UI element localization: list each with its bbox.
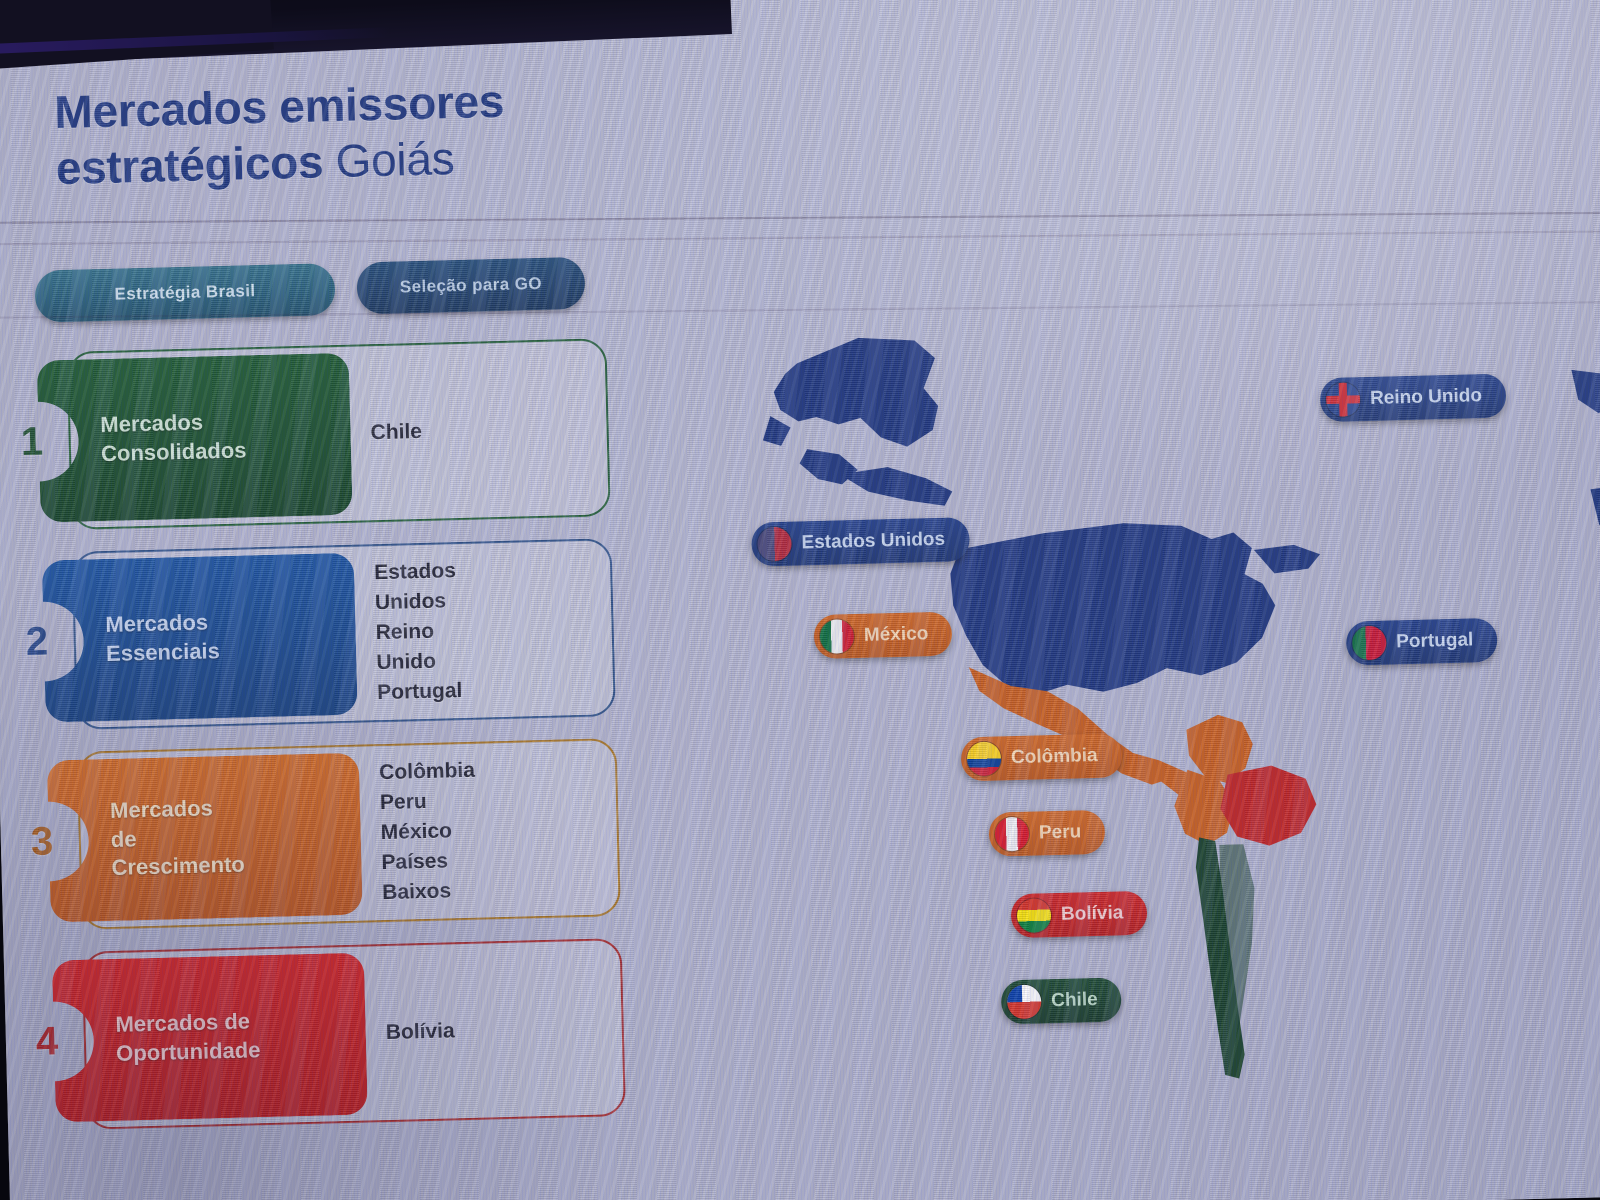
map-pill-reino-unido[interactable]: Reino Unido [1320, 374, 1507, 423]
tier-name-line-1: Mercados de [110, 794, 245, 855]
map-pill-chile[interactable]: Chile [1001, 977, 1123, 1024]
map-pill-label: Portugal [1396, 629, 1474, 653]
tier-number: 3 [29, 760, 55, 923]
map-pill-bolivia[interactable]: Bolívia [1011, 891, 1148, 938]
tier-number: 4 [34, 960, 60, 1123]
flag-bolivia-icon [1017, 898, 1052, 933]
tier-number: 1 [19, 361, 45, 524]
flag-peru-icon [995, 817, 1030, 852]
country-item: Países Baixos [381, 846, 478, 908]
map-pill-label: México [864, 623, 929, 647]
map-pill-colombia[interactable]: Colômbia [961, 733, 1123, 781]
map-pill-peru[interactable]: Peru [988, 810, 1105, 857]
country-item: México [380, 816, 476, 848]
map-europe-fragments [1501, 369, 1600, 792]
title-goias: Goiás [335, 132, 455, 187]
country-item: Peru [380, 786, 476, 818]
page-title: Mercados emissores estratégicos Goiás [54, 65, 817, 196]
tier-name: Mercados de Crescimento [109, 756, 246, 921]
tier-row-crescimento[interactable]: 3 Mercados de Crescimento Colômbia Peru … [18, 747, 23, 939]
world-map: Estados Unidos Reino Unido Portugal Méxi… [707, 279, 1600, 1181]
tab-label: Estratégia Brasil [114, 281, 255, 305]
country-item: Portugal [377, 676, 463, 708]
presentation-slide: Mercados emissores estratégicos Goiás Es… [0, 0, 1600, 1199]
map-pill-label: Chile [1051, 989, 1098, 1012]
tier-name: Mercados Essenciais [104, 556, 222, 721]
map-pill-label: Colômbia [1011, 745, 1098, 769]
landmass-europe-fragment [1590, 485, 1600, 530]
tier-name-line-1: Mercados [105, 609, 219, 640]
tier-name: Mercados de Oportunidade [114, 955, 262, 1121]
map-pill-mexico[interactable]: México [813, 612, 952, 659]
landmass-europe-fragment [1571, 369, 1600, 414]
map-pill-label: Estados Unidos [801, 529, 945, 555]
tier-row-essenciais[interactable]: 2 Mercados Essenciais Estados Unidos Rei… [13, 547, 18, 739]
landmass-united-states [949, 518, 1323, 697]
tier-name-line-1: Mercados de [115, 1008, 260, 1040]
tier-name-line-2: Oportunidade [116, 1036, 261, 1068]
map-pill-label: Peru [1039, 821, 1082, 844]
photographed-screen: Mercados emissores estratégicos Goiás Es… [0, 0, 1600, 1200]
country-item: Bolívia [385, 1016, 455, 1048]
tier-name: Mercados Consolidados [99, 355, 249, 521]
landmass-alaska [760, 336, 952, 511]
flag-colombia-icon [967, 741, 1002, 776]
tab-selecao-para-go[interactable]: Seleção para GO [356, 257, 585, 315]
title-strategic: estratégicos [55, 135, 324, 194]
tier-name-line-2: Crescimento [111, 851, 245, 883]
tier-country-list: Colômbia Peru México Países Baixos [379, 750, 479, 914]
tier-name-line-1: Mercados [100, 408, 246, 440]
tier-number: 2 [24, 561, 50, 724]
tier-row-oportunidade[interactable]: 4 Mercados de Oportunidade Bolívia [24, 947, 29, 1139]
tier-country-list: Estados Unidos Reino Unido Portugal [374, 550, 463, 714]
tier-country-list: Bolívia [384, 950, 457, 1114]
country-item: Colômbia [379, 756, 475, 788]
map-pill-label: Reino Unido [1370, 385, 1482, 410]
flag-united-kingdom-icon [1326, 382, 1361, 417]
flag-mexico-icon [820, 619, 855, 654]
flag-portugal-icon [1352, 626, 1387, 661]
map-pill-portugal[interactable]: Portugal [1346, 618, 1498, 666]
tier-name-line-2: Essenciais [106, 637, 220, 668]
country-item: Estados Unidos [374, 557, 461, 619]
tier-row-consolidados[interactable]: 1 Mercados Consolidados Chile [8, 347, 13, 539]
landmass-bolivia [1219, 764, 1317, 846]
tier-country-list: Chile [369, 351, 424, 514]
country-item: Reino Unido [375, 616, 462, 678]
map-pill-estados-unidos[interactable]: Estados Unidos [751, 517, 970, 566]
map-pill-label: Bolívia [1061, 902, 1124, 926]
flag-united-states-icon [757, 527, 792, 562]
flag-chile-icon [1007, 984, 1042, 1019]
tab-label: Seleção para GO [400, 274, 543, 298]
country-item: Chile [370, 417, 422, 448]
screen-surface: Mercados emissores estratégicos Goiás Es… [0, 0, 1600, 1200]
tier-name-line-2: Consolidados [101, 436, 247, 468]
